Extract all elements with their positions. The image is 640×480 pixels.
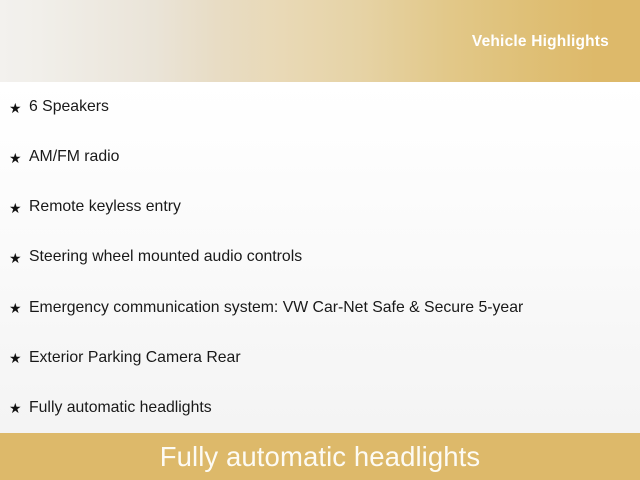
page-title: Vehicle Highlights <box>472 32 609 50</box>
panel-header: Vehicle Highlights <box>0 0 640 82</box>
list-item-label: Exterior Parking Camera Rear <box>29 349 640 367</box>
list-item-label: Steering wheel mounted audio controls <box>29 248 640 266</box>
list-item-label: Remote keyless entry <box>29 198 640 216</box>
caption-text: Fully automatic headlights <box>160 443 481 471</box>
star-icon: ★ <box>9 100 29 115</box>
vehicle-highlights-panel: Vehicle Highlights ★ 6 Speakers ★ AM/FM … <box>0 0 640 480</box>
list-item[interactable]: ★ 6 Speakers <box>0 82 640 132</box>
caption-bar: Fully automatic headlights <box>0 433 640 480</box>
star-icon: ★ <box>9 200 29 215</box>
list-item[interactable]: ★ Emergency communication system: VW Car… <box>0 283 640 333</box>
list-item[interactable]: ★ AM/FM radio <box>0 132 640 182</box>
list-item-label: Emergency communication system: VW Car-N… <box>29 299 640 317</box>
list-item[interactable]: ★ Exterior Parking Camera Rear <box>0 333 640 383</box>
list-item[interactable]: ★ Fully automatic headlights <box>0 383 640 433</box>
star-icon: ★ <box>9 400 29 415</box>
star-icon: ★ <box>9 300 29 315</box>
highlights-list: ★ 6 Speakers ★ AM/FM radio ★ Remote keyl… <box>0 82 640 433</box>
list-item[interactable]: ★ Remote keyless entry <box>0 182 640 232</box>
list-item-label: AM/FM radio <box>29 148 640 166</box>
list-item[interactable]: ★ Steering wheel mounted audio controls <box>0 232 640 282</box>
list-item-label: 6 Speakers <box>29 98 640 116</box>
star-icon: ★ <box>9 250 29 265</box>
star-icon: ★ <box>9 350 29 365</box>
star-icon: ★ <box>9 150 29 165</box>
list-item-label: Fully automatic headlights <box>29 399 640 417</box>
